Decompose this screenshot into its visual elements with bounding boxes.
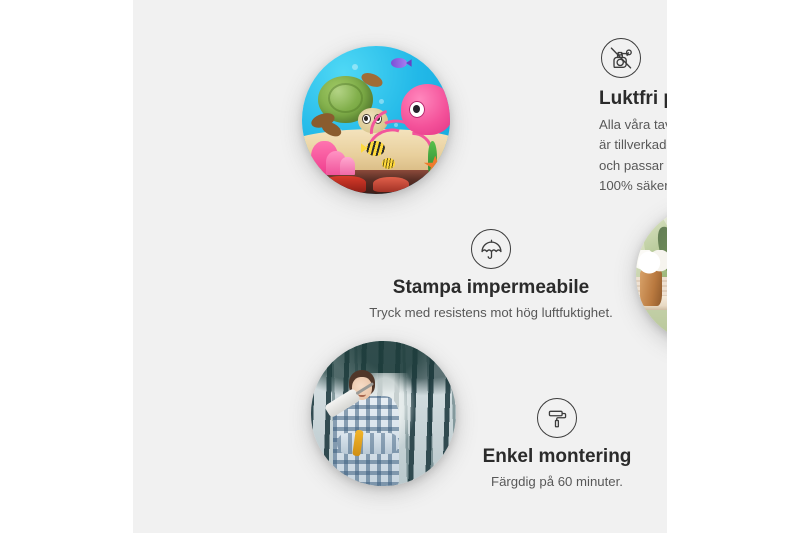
umbrella-icon <box>471 229 511 269</box>
octopus-head <box>401 84 450 134</box>
feature-title: Luktfri produkt <box>599 88 667 110</box>
photo-underwater-cartoon <box>302 46 450 194</box>
white-flowers <box>636 250 667 275</box>
octopus-eye <box>409 101 425 118</box>
feature-assembly: Enkel montering Färgdig på 60 minuter. <box>432 398 667 492</box>
feature-odourless: Luktfri produkt Alla våra tavlor tillver… <box>599 38 667 196</box>
turtle-eye <box>362 114 371 125</box>
fish-small-yellow <box>382 158 395 168</box>
no-fragrance-icon <box>601 38 641 78</box>
feature-description: Tryck med resistens mot hög luftfuktighe… <box>346 303 636 323</box>
coral-pink <box>340 157 355 175</box>
feature-waterproof: Stampa impermeabile Tryck med resistens … <box>346 229 636 323</box>
feature-description: Alla våra tavlor tillverkas i och av pro… <box>599 115 667 195</box>
folded-arms <box>337 433 399 454</box>
woman-figure <box>328 370 412 486</box>
feature-description: Färgdig på 60 minuter. <box>432 472 667 492</box>
feature-title: Stampa impermeabile <box>346 277 636 299</box>
fish-yellow-striped <box>366 141 385 156</box>
bubble-icon <box>352 64 358 70</box>
underwater-illustration <box>302 46 450 194</box>
infographic-canvas: Luktfri produkt Alla våra tavlor tillver… <box>0 0 800 533</box>
paint-roller-icon <box>537 398 577 438</box>
photo-bathroom-vanity <box>636 206 667 343</box>
content-panel: Luktfri produkt Alla våra tavlor tillver… <box>133 0 667 533</box>
feature-title: Enkel montering <box>432 446 667 468</box>
bathroom-scene <box>636 206 667 343</box>
